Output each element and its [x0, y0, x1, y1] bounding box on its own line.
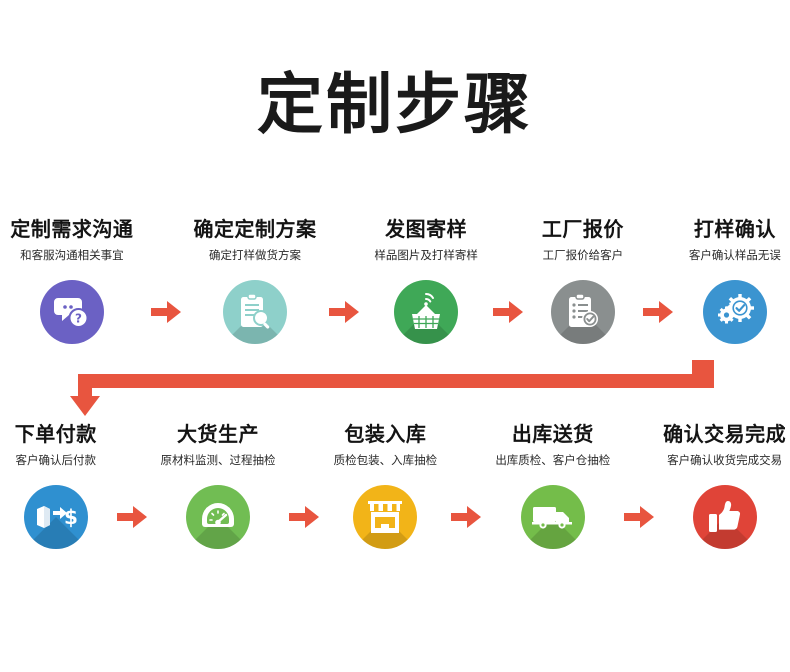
step-title: 定制需求沟通 [10, 218, 133, 240]
flow-arrow [636, 280, 680, 344]
step-subtitle: 客户确认样品无误 [689, 249, 781, 262]
step-item[interactable]: 下单付款 客户确认后付款 $ [0, 423, 112, 549]
clipboard-search-icon[interactable] [223, 280, 287, 344]
step-title: 包装入库 [344, 423, 426, 445]
svg-text:$: $ [64, 505, 77, 529]
step-title: 出库送货 [512, 423, 594, 445]
step-item[interactable]: 确定定制方案 确定打样做货方案 [188, 218, 322, 344]
chat-question-icon[interactable]: ? [40, 280, 104, 344]
flow-arrow [112, 485, 152, 549]
step-title: 大货生产 [177, 423, 259, 445]
step-subtitle: 出库质检、客户仓抽检 [495, 454, 610, 467]
gauge-icon[interactable] [186, 485, 250, 549]
step-item[interactable]: 定制需求沟通 和客服沟通相关事宜 ? [0, 218, 144, 344]
steps-row-2: 下单付款 客户确认后付款 $ 大货生产 原材料监测、过程抽检 [0, 423, 790, 549]
step-subtitle: 确定打样做货方案 [209, 249, 301, 262]
flow-arrow [144, 280, 188, 344]
step-item[interactable]: 发图寄样 样品图片及打样寄样 [366, 218, 486, 344]
step-title: 发图寄样 [385, 218, 467, 240]
step-item[interactable]: 工厂报价 工厂报价给客户 [530, 218, 635, 344]
storefront-icon[interactable] [353, 485, 417, 549]
page-title: 定制步骤 [0, 72, 790, 138]
flow-arrow [619, 485, 659, 549]
step-subtitle: 质检包装、入库抽检 [334, 454, 438, 467]
step-item[interactable]: 大货生产 原材料监测、过程抽检 [152, 423, 285, 549]
clipboard-check-icon[interactable] [551, 280, 615, 344]
payment-exchange-icon[interactable]: $ [24, 485, 88, 549]
steps-row-1: 定制需求沟通 和客服沟通相关事宜 ? 确定定制方案 确定打样做货方案 [0, 218, 790, 344]
custom-steps-infographic: 定制步骤 定制需求沟通 和客服沟通相关事宜 ? 确定定制方案 确定打样做货方 [0, 0, 790, 672]
svg-text:?: ? [75, 311, 82, 325]
flow-arrow [284, 485, 324, 549]
flow-arrow [446, 485, 486, 549]
thumbs-up-icon[interactable] [693, 485, 757, 549]
step-subtitle: 原材料监测、过程抽检 [160, 454, 275, 467]
flow-arrow [322, 280, 366, 344]
step-item[interactable]: 出库送货 出库质检、客户仓抽检 [487, 423, 620, 549]
row-connector-arrow [0, 360, 790, 420]
step-subtitle: 客户确认收货完成交易 [667, 454, 782, 467]
basket-signal-icon[interactable] [394, 280, 458, 344]
step-item[interactable]: 包装入库 质检包装、入库抽检 [324, 423, 446, 549]
step-subtitle: 工厂报价给客户 [543, 249, 624, 262]
step-title: 工厂报价 [542, 218, 624, 240]
step-subtitle: 样品图片及打样寄样 [374, 249, 478, 262]
step-subtitle: 客户确认后付款 [16, 454, 97, 467]
step-item[interactable]: 确认交易完成 客户确认收货完成交易 [659, 423, 790, 549]
step-title: 确认交易完成 [663, 423, 786, 445]
gears-check-icon[interactable] [703, 280, 767, 344]
step-title: 确定定制方案 [194, 218, 317, 240]
step-title: 打样确认 [694, 218, 776, 240]
flow-arrow [486, 280, 530, 344]
delivery-truck-icon[interactable] [521, 485, 585, 549]
step-subtitle: 和客服沟通相关事宜 [20, 249, 124, 262]
step-title: 下单付款 [15, 423, 97, 445]
step-item[interactable]: 打样确认 客户确认样品无误 [680, 218, 790, 344]
